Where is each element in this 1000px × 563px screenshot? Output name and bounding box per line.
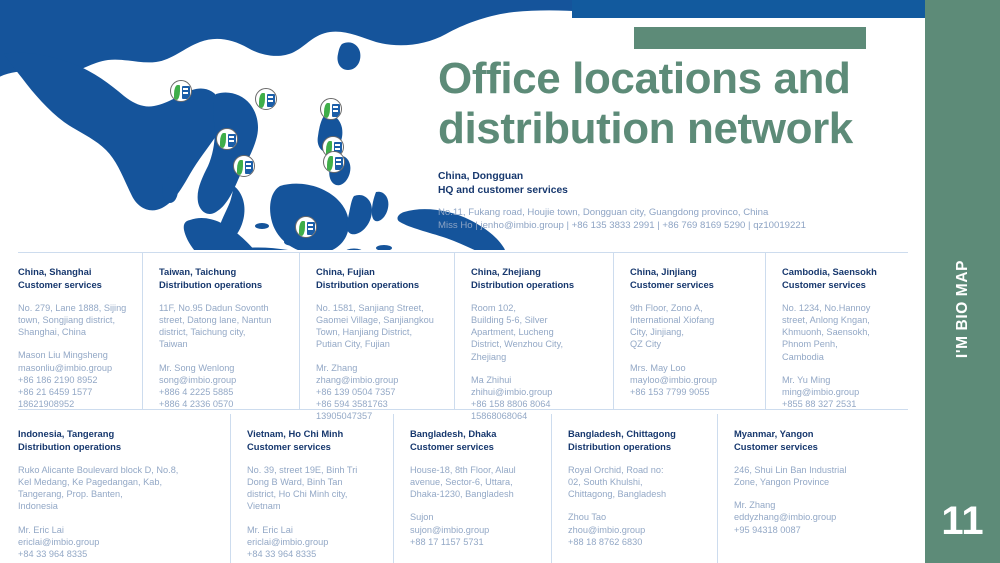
card-address: House-18, 8th Floor, Alaul avenue, Secto… <box>410 464 539 501</box>
hq-address: No.11, Fukang road, Houjie town, Donggua… <box>438 207 918 220</box>
map-pin-fujian[interactable] <box>255 88 277 110</box>
title-green-accent-bar <box>634 27 866 49</box>
card-contact: Mr. Eric Lai ericlai@imbio.group +84 33 … <box>18 524 218 561</box>
map-pin-hochiminh[interactable] <box>233 155 255 177</box>
building-icon <box>307 222 315 235</box>
leaf-icon <box>220 133 226 148</box>
card-heading: China, Zhejiang Distribution operations <box>471 266 601 292</box>
hq-contact: Miss Ho | jenho@imbio.group | +86 135 38… <box>438 220 918 233</box>
leaf-icon <box>259 93 265 108</box>
locations-grid: China, Shanghai Customer services No. 27… <box>0 252 925 563</box>
card-heading: Indonesia, Tangerang Distribution operat… <box>18 428 218 454</box>
page-number: 11 <box>925 501 1000 541</box>
leaf-icon <box>174 85 180 100</box>
card-contact: Mr. Eric Lai ericlai@imbio.group +84 33 … <box>247 524 381 561</box>
card-address: 11F, No.95 Dadun Sovonth street, Datong … <box>159 302 287 351</box>
location-card[interactable]: China, Zhejiang Distribution operations … <box>454 252 613 410</box>
top-blue-accent-bar <box>572 0 925 18</box>
leaf-icon <box>237 160 243 175</box>
location-card[interactable]: Indonesia, Tangerang Distribution operat… <box>0 414 230 563</box>
card-heading: Bangladesh, Dhaka Customer services <box>410 428 539 454</box>
map-pin-tangerang[interactable] <box>295 216 317 238</box>
location-card[interactable]: China, Fujian Distribution operations No… <box>299 252 454 410</box>
location-card[interactable]: Myanmar, Yangon Customer services 246, S… <box>717 414 925 563</box>
location-card[interactable]: Vietnam, Ho Chi Minh Customer services N… <box>230 414 393 563</box>
building-icon <box>335 157 343 170</box>
location-card[interactable]: China, Shanghai Customer services No. 27… <box>0 252 142 410</box>
card-address: No. 39, street 19E, Binh Tri Dong B Ward… <box>247 464 381 513</box>
page-title-line-2: distribution network <box>438 104 908 154</box>
card-heading: China, Fujian Distribution operations <box>316 266 442 292</box>
card-address: Room 102, Building 5-6, Silver Apartment… <box>471 302 601 363</box>
card-heading: Cambodia, Saensokh Customer services <box>782 266 913 292</box>
card-address: Royal Orchid, Road no: 02, South Khulshi… <box>568 464 705 501</box>
location-card[interactable]: Taiwan, Taichung Distribution operations… <box>142 252 299 410</box>
slide-root: Office locations and distribution networ… <box>0 0 1000 563</box>
map-pin-dhaka[interactable] <box>170 80 192 102</box>
building-icon <box>332 104 340 117</box>
hq-block: China, Dongguan HQ and customer services… <box>438 170 918 233</box>
card-address: 9th Floor, Zono A, International Xiofang… <box>630 302 753 351</box>
card-heading: China, Jinjiang Customer services <box>630 266 753 292</box>
card-contact: Mr. Yu Ming ming@imbio.group +855 88 327… <box>782 374 913 411</box>
card-address: No. 1581, Sanjiang Street, Gaomei Villag… <box>316 302 442 351</box>
card-contact: Mr. Zhang eddyzhang@imbio.group +95 9431… <box>734 499 913 536</box>
building-icon <box>267 94 275 107</box>
card-contact: Mr. Song Wenlong song@imbio.group +886 4… <box>159 362 287 411</box>
location-card[interactable]: Cambodia, Saensokh Customer services No.… <box>765 252 925 410</box>
card-address: No. 279, Lane 1888, Sijing town, Songjia… <box>18 302 130 339</box>
leaf-icon <box>299 221 305 236</box>
building-icon <box>245 161 253 174</box>
location-card[interactable]: China, Jinjiang Customer services 9th Fl… <box>613 252 765 410</box>
card-address: Ruko Alicante Boulevard block D, No.8, K… <box>18 464 218 513</box>
building-icon <box>228 134 236 147</box>
locations-row-1: China, Shanghai Customer services No. 27… <box>0 252 925 410</box>
location-card[interactable]: Bangladesh, Dhaka Customer services Hous… <box>393 414 551 563</box>
hq-heading-line-2: HQ and customer services <box>438 184 918 198</box>
page-title: Office locations and distribution networ… <box>438 54 908 153</box>
leaf-icon <box>324 103 330 118</box>
card-heading: Myanmar, Yangon Customer services <box>734 428 913 454</box>
card-address: No. 1234, No.Hannoy street, Anlong Kngan… <box>782 302 913 363</box>
map-pin-shanghai[interactable] <box>320 98 342 120</box>
right-green-panel: I'M BIO MAP 11 <box>925 0 1000 563</box>
location-card[interactable]: Bangladesh, Chittagong Distribution oper… <box>551 414 717 563</box>
card-contact: Mason Liu Mingsheng masonliu@imbio.group… <box>18 349 130 410</box>
hq-heading: China, Dongguan HQ and customer services <box>438 170 918 197</box>
card-heading: China, Shanghai Customer services <box>18 266 130 292</box>
card-heading: Taiwan, Taichung Distribution operations <box>159 266 287 292</box>
card-address: 246, Shui Lin Ban Industrial Zone, Yango… <box>734 464 913 488</box>
card-contact: Mrs. May Loo mayloo@imbio.group +86 153 … <box>630 362 753 399</box>
map-pin-philippines[interactable] <box>323 151 345 173</box>
card-contact: Zhou Tao zhou@imbio.group +88 18 8762 68… <box>568 511 705 548</box>
building-icon <box>182 86 190 99</box>
locations-row-2: Indonesia, Tangerang Distribution operat… <box>0 414 925 563</box>
page-title-line-1: Office locations and <box>438 54 908 104</box>
card-contact: Sujon sujon@imbio.group +88 17 1157 5731 <box>410 511 539 548</box>
hq-details: No.11, Fukang road, Houjie town, Donggua… <box>438 207 918 233</box>
map-pin-yangon[interactable] <box>216 128 238 150</box>
leaf-icon <box>327 156 333 171</box>
card-heading: Vietnam, Ho Chi Minh Customer services <box>247 428 381 454</box>
card-heading: Bangladesh, Chittagong Distribution oper… <box>568 428 705 454</box>
brand-vertical-label: I'M BIO MAP <box>954 260 972 358</box>
hq-heading-line-1: China, Dongguan <box>438 170 918 184</box>
